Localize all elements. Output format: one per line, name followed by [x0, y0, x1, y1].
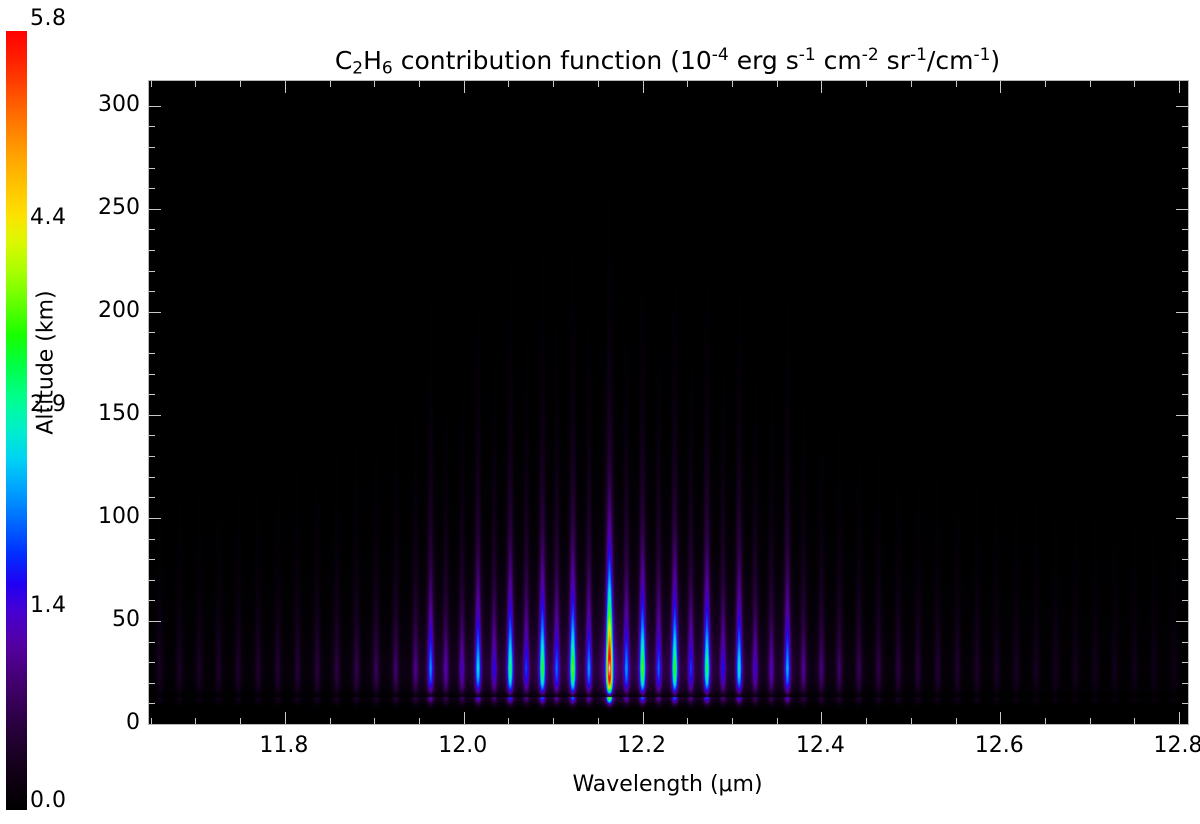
y-major-tick: [149, 312, 161, 313]
y-minor-tick: [1182, 332, 1188, 333]
x-minor-tick: [643, 718, 644, 724]
x-minor-tick: [866, 718, 867, 724]
y-minor-tick: [149, 477, 155, 478]
y-minor-tick: [149, 456, 155, 457]
y-tick-label: 150: [80, 403, 140, 425]
y-minor-tick: [149, 559, 155, 560]
title-text-5: /cm: [927, 46, 974, 75]
y-minor-tick: [149, 662, 155, 663]
y-axis-label: Altitude (km): [34, 273, 59, 453]
y-minor-tick: [149, 332, 155, 333]
y-minor-tick: [149, 229, 155, 230]
x-minor-tick: [330, 81, 331, 87]
y-major-tick: [1176, 724, 1188, 725]
y-minor-tick: [1182, 477, 1188, 478]
title-text-1: contribution function (10: [393, 46, 712, 75]
x-minor-tick: [1134, 81, 1135, 87]
x-tick-label: 12.4: [775, 735, 865, 757]
y-minor-tick: [1182, 147, 1188, 148]
y-major-tick: [149, 106, 161, 107]
x-major-tick: [1179, 81, 1180, 93]
title-text-4: sr: [879, 46, 910, 75]
title-sup-sr: -1: [910, 45, 927, 65]
x-minor-tick: [374, 718, 375, 724]
y-axis-ticks: 050100150200250300: [78, 0, 140, 824]
y-minor-tick: [149, 600, 155, 601]
y-minor-tick: [149, 250, 155, 251]
x-minor-tick: [956, 81, 957, 87]
y-minor-tick: [1182, 662, 1188, 663]
x-minor-tick: [1090, 718, 1091, 724]
y-tick-label: 0: [80, 712, 140, 734]
y-minor-tick: [1182, 435, 1188, 436]
x-minor-tick: [151, 81, 152, 87]
y-major-tick: [1176, 312, 1188, 313]
colorbar-tick-2: 1.4: [30, 595, 67, 617]
y-tick-label: 100: [80, 506, 140, 528]
y-tick-label: 250: [80, 197, 140, 219]
page-title: C2H6 contribution function (10-4 erg s-1…: [148, 40, 1187, 84]
y-minor-tick: [149, 703, 155, 704]
colorbar-tick-4: 4.4: [30, 207, 67, 229]
y-major-tick: [149, 518, 161, 519]
x-tick-label: 12.6: [954, 735, 1044, 757]
x-minor-tick: [956, 718, 957, 724]
y-minor-tick: [149, 147, 155, 148]
y-major-tick: [149, 621, 161, 622]
y-minor-tick: [149, 188, 155, 189]
y-minor-tick: [1182, 394, 1188, 395]
y-major-tick: [1176, 415, 1188, 416]
y-minor-tick: [149, 126, 155, 127]
x-minor-tick: [151, 718, 152, 724]
title-text-6: ): [990, 46, 1000, 75]
x-minor-tick: [598, 718, 599, 724]
title-species-h: H: [363, 46, 382, 75]
x-minor-tick: [330, 718, 331, 724]
y-minor-tick: [1182, 497, 1188, 498]
x-minor-tick: [240, 81, 241, 87]
y-minor-tick: [1182, 559, 1188, 560]
y-minor-tick: [1182, 642, 1188, 643]
y-minor-tick: [1182, 250, 1188, 251]
y-minor-tick: [1182, 539, 1188, 540]
y-minor-tick: [1182, 683, 1188, 684]
figure-root: 5.8 4.4 2.9 1.4 0.0 C2H6 contribution fu…: [0, 0, 1200, 824]
x-tick-label: 12.0: [418, 735, 508, 757]
y-minor-tick: [1182, 291, 1188, 292]
y-minor-tick: [149, 271, 155, 272]
colorbar-tick-min: 0.0: [30, 790, 67, 812]
x-minor-tick: [777, 718, 778, 724]
x-minor-tick: [1134, 718, 1135, 724]
x-minor-tick: [553, 81, 554, 87]
x-minor-tick: [419, 81, 420, 87]
y-minor-tick: [1182, 353, 1188, 354]
y-major-tick: [149, 415, 161, 416]
y-minor-tick: [149, 394, 155, 395]
title-sub-6: 6: [382, 59, 393, 79]
y-minor-tick: [1182, 126, 1188, 127]
y-major-tick: [1176, 106, 1188, 107]
x-tick-label: 11.8: [239, 735, 329, 757]
y-minor-tick: [149, 497, 155, 498]
x-tick-label: 12.8: [1133, 735, 1200, 757]
x-minor-tick: [732, 81, 733, 87]
y-minor-tick: [1182, 229, 1188, 230]
title-sup-m4: -4: [712, 45, 729, 65]
y-minor-tick: [149, 374, 155, 375]
y-minor-tick: [149, 580, 155, 581]
x-minor-tick: [1045, 718, 1046, 724]
x-minor-tick: [1000, 718, 1001, 724]
x-minor-tick: [464, 718, 465, 724]
x-minor-tick: [285, 718, 286, 724]
title-text-3: cm: [816, 46, 862, 75]
x-minor-tick: [732, 718, 733, 724]
y-major-tick: [149, 724, 161, 725]
title-species-c: C: [335, 46, 352, 75]
x-minor-tick: [374, 81, 375, 87]
x-minor-tick: [195, 718, 196, 724]
y-minor-tick: [1182, 703, 1188, 704]
y-minor-tick: [1182, 168, 1188, 169]
y-major-tick: [149, 209, 161, 210]
x-minor-tick: [195, 81, 196, 87]
x-minor-tick: [643, 81, 644, 87]
x-minor-tick: [553, 718, 554, 724]
x-minor-tick: [821, 718, 822, 724]
y-minor-tick: [1182, 580, 1188, 581]
colorbar-gradient-strip: [6, 31, 27, 810]
y-tick-label: 50: [80, 609, 140, 631]
y-tick-label: 300: [80, 94, 140, 116]
x-tick-label: 12.2: [597, 735, 687, 757]
y-major-tick: [1176, 518, 1188, 519]
y-minor-tick: [149, 353, 155, 354]
y-minor-tick: [149, 168, 155, 169]
x-axis-label: Wavelength (μm): [148, 772, 1187, 797]
x-minor-tick: [1090, 81, 1091, 87]
y-minor-tick: [1182, 600, 1188, 601]
title-sup-cm: -2: [862, 45, 879, 65]
y-major-tick: [1176, 209, 1188, 210]
heatmap-plot-area: [148, 80, 1189, 725]
title-sup-s: -1: [799, 45, 816, 65]
y-minor-tick: [1182, 188, 1188, 189]
title-sup-cm2: -1: [973, 45, 990, 65]
x-minor-tick: [911, 718, 912, 724]
x-minor-tick: [419, 718, 420, 724]
x-minor-tick: [1000, 81, 1001, 87]
x-minor-tick: [464, 81, 465, 87]
x-minor-tick: [285, 81, 286, 87]
title-sub-2: 2: [352, 59, 363, 79]
y-major-tick: [1176, 621, 1188, 622]
contribution-function-heatmap: [149, 81, 1188, 724]
x-minor-tick: [687, 718, 688, 724]
y-minor-tick: [149, 291, 155, 292]
x-minor-tick: [508, 718, 509, 724]
y-minor-tick: [149, 642, 155, 643]
colorbar-tick-max: 5.8: [30, 8, 67, 30]
y-minor-tick: [1182, 456, 1188, 457]
y-minor-tick: [149, 435, 155, 436]
y-minor-tick: [1182, 271, 1188, 272]
x-minor-tick: [240, 718, 241, 724]
x-minor-tick: [598, 81, 599, 87]
x-minor-tick: [866, 81, 867, 87]
x-major-tick: [1179, 712, 1180, 724]
x-minor-tick: [911, 81, 912, 87]
y-minor-tick: [1182, 374, 1188, 375]
y-minor-tick: [149, 539, 155, 540]
x-minor-tick: [777, 81, 778, 87]
y-minor-tick: [149, 683, 155, 684]
x-minor-tick: [508, 81, 509, 87]
title-text-2: erg s: [729, 46, 799, 75]
y-tick-label: 200: [80, 300, 140, 322]
x-minor-tick: [1045, 81, 1046, 87]
x-minor-tick: [687, 81, 688, 87]
x-minor-tick: [821, 81, 822, 87]
